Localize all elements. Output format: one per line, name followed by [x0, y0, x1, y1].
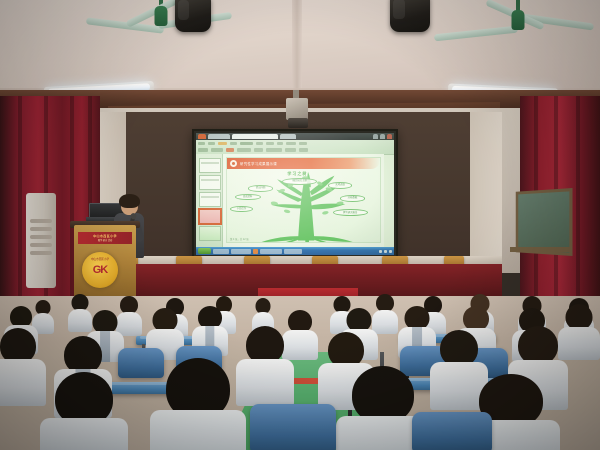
chair-back: [412, 412, 492, 450]
podium-banner-subtitle: 教学 研讨 活动: [98, 238, 112, 242]
student: [150, 358, 246, 450]
window-tab[interactable]: [280, 134, 296, 139]
ribbon-tab[interactable]: [240, 142, 253, 145]
school-emblem: 中山市西区小学 GK: [82, 252, 118, 288]
mindmap-tree-graphic: 学习之树: [227, 169, 380, 242]
projected-image: 研究性学习成果展示课 学习之树: [196, 133, 394, 255]
podium-banner: 中山市西区小学 教学 研讨 活动: [78, 232, 132, 244]
slide-editing-area[interactable]: 研究性学习成果展示课 学习之树: [223, 154, 384, 247]
ribbon-button[interactable]: [299, 148, 308, 152]
air-conditioner-unit: [26, 193, 56, 288]
window-tab[interactable]: [208, 134, 230, 139]
slide-thumbnail[interactable]: [199, 226, 221, 241]
ribbon-button[interactable]: [198, 148, 208, 152]
network-icon[interactable]: [384, 250, 387, 253]
slide-thumbnail[interactable]: [199, 192, 221, 207]
minimize-icon[interactable]: [373, 134, 378, 139]
ribbon-button[interactable]: [285, 148, 296, 152]
wall-panel-right: [470, 112, 502, 264]
mindmap-bubble: 小组合作: [230, 206, 253, 213]
slide-title-bar: 研究性学习成果展示课: [227, 158, 380, 169]
ceiling-projector: [286, 98, 308, 120]
ribbon-tab[interactable]: [277, 142, 283, 145]
volume-icon[interactable]: [379, 250, 382, 253]
system-tray[interactable]: [379, 250, 392, 253]
ribbon-button[interactable]: [266, 148, 282, 152]
auditorium-photo: 研究性学习成果展示课 学习之树: [0, 0, 600, 450]
emblem-monogram: GK: [93, 264, 108, 276]
app-title-bar[interactable]: [196, 133, 394, 140]
slide-thumbnail[interactable]: [199, 158, 221, 173]
ceiling-speaker-right: [390, 0, 430, 32]
taskbar-item[interactable]: [284, 249, 302, 254]
slide-thumbnail[interactable]: [199, 175, 221, 190]
emblem-text: 中山市西区小学: [91, 257, 109, 261]
slide-thumbnail-selected[interactable]: [199, 209, 221, 224]
ribbon-button[interactable]: [226, 148, 234, 152]
presenter-hair: [119, 194, 140, 208]
student: [40, 372, 128, 450]
ribbon-tab[interactable]: [286, 142, 296, 145]
taskbar-item[interactable]: [231, 249, 251, 254]
chalkboard: [516, 188, 573, 256]
start-button[interactable]: [198, 248, 211, 254]
clock-icon[interactable]: [389, 250, 392, 253]
mindmap-bubble: 提出问题: [248, 185, 272, 192]
taskbar-item-active[interactable]: [253, 249, 258, 254]
ribbon-tab[interactable]: [256, 142, 263, 145]
mindmap-bubble: 确定研究主题: [282, 178, 317, 185]
projection-screen: 研究性学习成果展示课 学习之树: [192, 129, 398, 259]
taskbar-item[interactable]: [213, 249, 229, 254]
slide-title-text: 研究性学习成果展示课: [240, 161, 277, 166]
ribbon-tab[interactable]: [266, 142, 274, 145]
current-slide: 研究性学习成果展示课 学习之树: [226, 157, 381, 243]
windows-taskbar[interactable]: [196, 247, 394, 255]
mindmap-bubble: 实地调查: [328, 182, 352, 189]
close-icon[interactable]: [387, 134, 392, 139]
chair-back: [250, 404, 336, 450]
ribbon-tab[interactable]: [299, 142, 307, 145]
ceiling-fan-right: [448, 10, 588, 32]
app-logo-tab[interactable]: [198, 134, 206, 139]
fan-hub: [512, 10, 525, 30]
ribbon-tab[interactable]: [208, 142, 215, 145]
ribbon-button[interactable]: [237, 148, 251, 152]
window-tab-active[interactable]: [232, 134, 278, 139]
ribbon-button[interactable]: [211, 148, 223, 152]
ribbon-tab-active[interactable]: [218, 142, 227, 145]
slide-thumbnail-panel[interactable]: [196, 154, 223, 247]
ribbon-tab[interactable]: [198, 142, 205, 145]
ribbon-tab[interactable]: [230, 142, 237, 145]
app-ribbon[interactable]: [196, 140, 394, 155]
maximize-icon[interactable]: [380, 134, 385, 139]
ceiling-seam: [292, 0, 302, 96]
slide-logo-icon: [230, 160, 237, 167]
projector-lens: [288, 118, 308, 128]
slide-footer-text: 第 4 张，共 12 张: [230, 237, 249, 241]
ceiling-speaker-left: [175, 0, 211, 32]
chalkboard-tray: [510, 247, 570, 252]
taskbar-item[interactable]: [260, 249, 282, 254]
ribbon-button[interactable]: [254, 148, 263, 152]
fan-hub: [155, 6, 168, 26]
mindmap-bubble: 分析数据: [340, 195, 364, 202]
